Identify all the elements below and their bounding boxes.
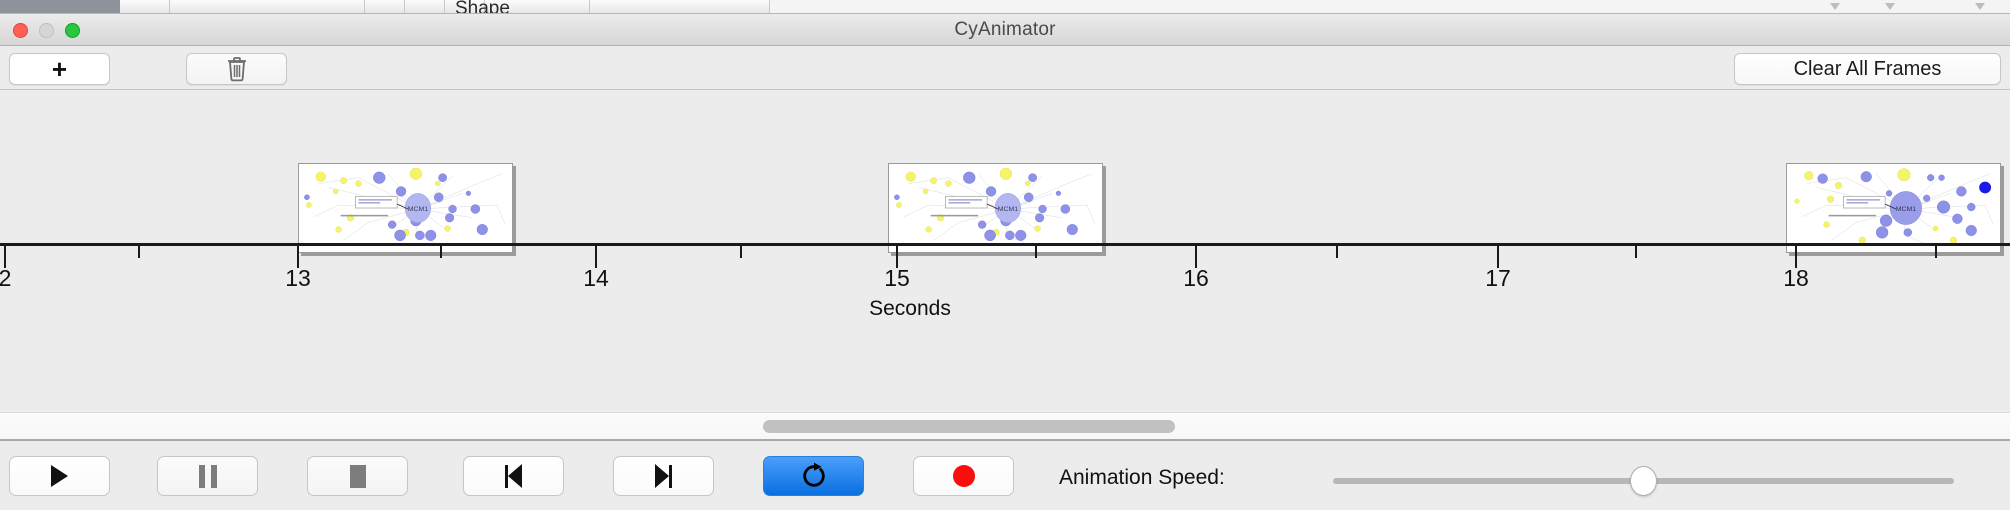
cyanimator-window: Shape CyAnimator + Clear All Frames: [0, 0, 2010, 510]
play-icon: [51, 465, 68, 487]
frame-thumbnail-1[interactable]: MCM1: [298, 163, 513, 253]
axis-tick: [1336, 246, 1338, 258]
pause-button[interactable]: [157, 456, 258, 496]
skip-forward-icon: [655, 464, 672, 488]
axis-tick-label: 2: [0, 265, 11, 292]
background-window-label: Shape: [455, 0, 510, 14]
network-graph-preview: MCM1: [299, 164, 512, 252]
window-title: CyAnimator: [0, 14, 2010, 46]
timeline-scrollbar-thumb[interactable]: [763, 420, 1175, 433]
toolbar: + Clear All Frames: [0, 47, 2010, 90]
axis-tick-label: 15: [884, 265, 910, 292]
axis-title: Seconds: [0, 297, 2010, 321]
background-window-segment: [170, 0, 365, 14]
background-window-tab-active: [0, 0, 120, 14]
add-frame-button[interactable]: +: [9, 53, 110, 85]
frame-thumbnail-2[interactable]: MCM1: [888, 163, 1103, 253]
axis-tick-label: 18: [1783, 265, 1809, 292]
svg-text:MCM1: MCM1: [1896, 206, 1917, 213]
trash-icon: [226, 56, 248, 82]
background-window-segment: [590, 0, 770, 14]
axis-tick: [740, 246, 742, 258]
axis-tick: [1035, 246, 1037, 258]
play-button[interactable]: [9, 456, 110, 496]
timeline-panel[interactable]: MCM1: [0, 90, 2010, 412]
svg-text:MCM1: MCM1: [408, 206, 429, 213]
stop-icon: [350, 465, 366, 488]
background-window-segment: [405, 0, 445, 14]
skip-to-end-button[interactable]: [613, 456, 714, 496]
loop-button[interactable]: [763, 456, 864, 496]
skip-to-start-button[interactable]: [463, 456, 564, 496]
title-bar: CyAnimator: [0, 14, 2010, 46]
network-graph-preview: MCM1: [889, 164, 1102, 252]
stop-button[interactable]: [307, 456, 408, 496]
frame-thumbnail-3[interactable]: MCM1: [1786, 163, 2001, 253]
background-window-segment: [365, 0, 405, 14]
delete-frame-button[interactable]: [186, 53, 287, 85]
axis-tick: [440, 246, 442, 258]
record-icon: [953, 465, 975, 487]
background-window-strip: Shape: [0, 0, 2010, 14]
record-button[interactable]: [913, 456, 1014, 496]
timeline-axis: [0, 243, 2010, 246]
animation-speed-slider-knob[interactable]: [1630, 466, 1657, 496]
timeline-scrollbar[interactable]: [0, 412, 2010, 439]
chevron-down-icon: [1885, 3, 1895, 10]
axis-tick-label: 14: [583, 265, 609, 292]
axis-tick: [138, 246, 140, 258]
axis-title-label: Seconds: [869, 297, 951, 320]
axis-tick-label: 17: [1485, 265, 1511, 292]
network-graph-preview: MCM1: [1787, 164, 2000, 252]
axis-tick: [1635, 246, 1637, 258]
skip-back-icon: [505, 464, 522, 488]
clear-all-frames-button[interactable]: Clear All Frames: [1734, 53, 2001, 85]
animation-speed-label: Animation Speed:: [1059, 466, 1225, 490]
axis-tick: [1935, 246, 1937, 258]
chevron-down-icon: [1830, 3, 1840, 10]
clear-all-frames-label: Clear All Frames: [1794, 58, 1942, 81]
chevron-down-icon: [1975, 3, 1985, 10]
axis-tick-label: 16: [1183, 265, 1209, 292]
axis-tick-label: 13: [285, 265, 311, 292]
transport-bar: Animation Speed:: [0, 439, 2010, 510]
background-window-segment: [120, 0, 170, 14]
pause-icon: [199, 465, 217, 488]
svg-text:MCM1: MCM1: [998, 206, 1019, 213]
plus-icon: +: [52, 56, 67, 82]
loop-icon: [800, 462, 828, 490]
